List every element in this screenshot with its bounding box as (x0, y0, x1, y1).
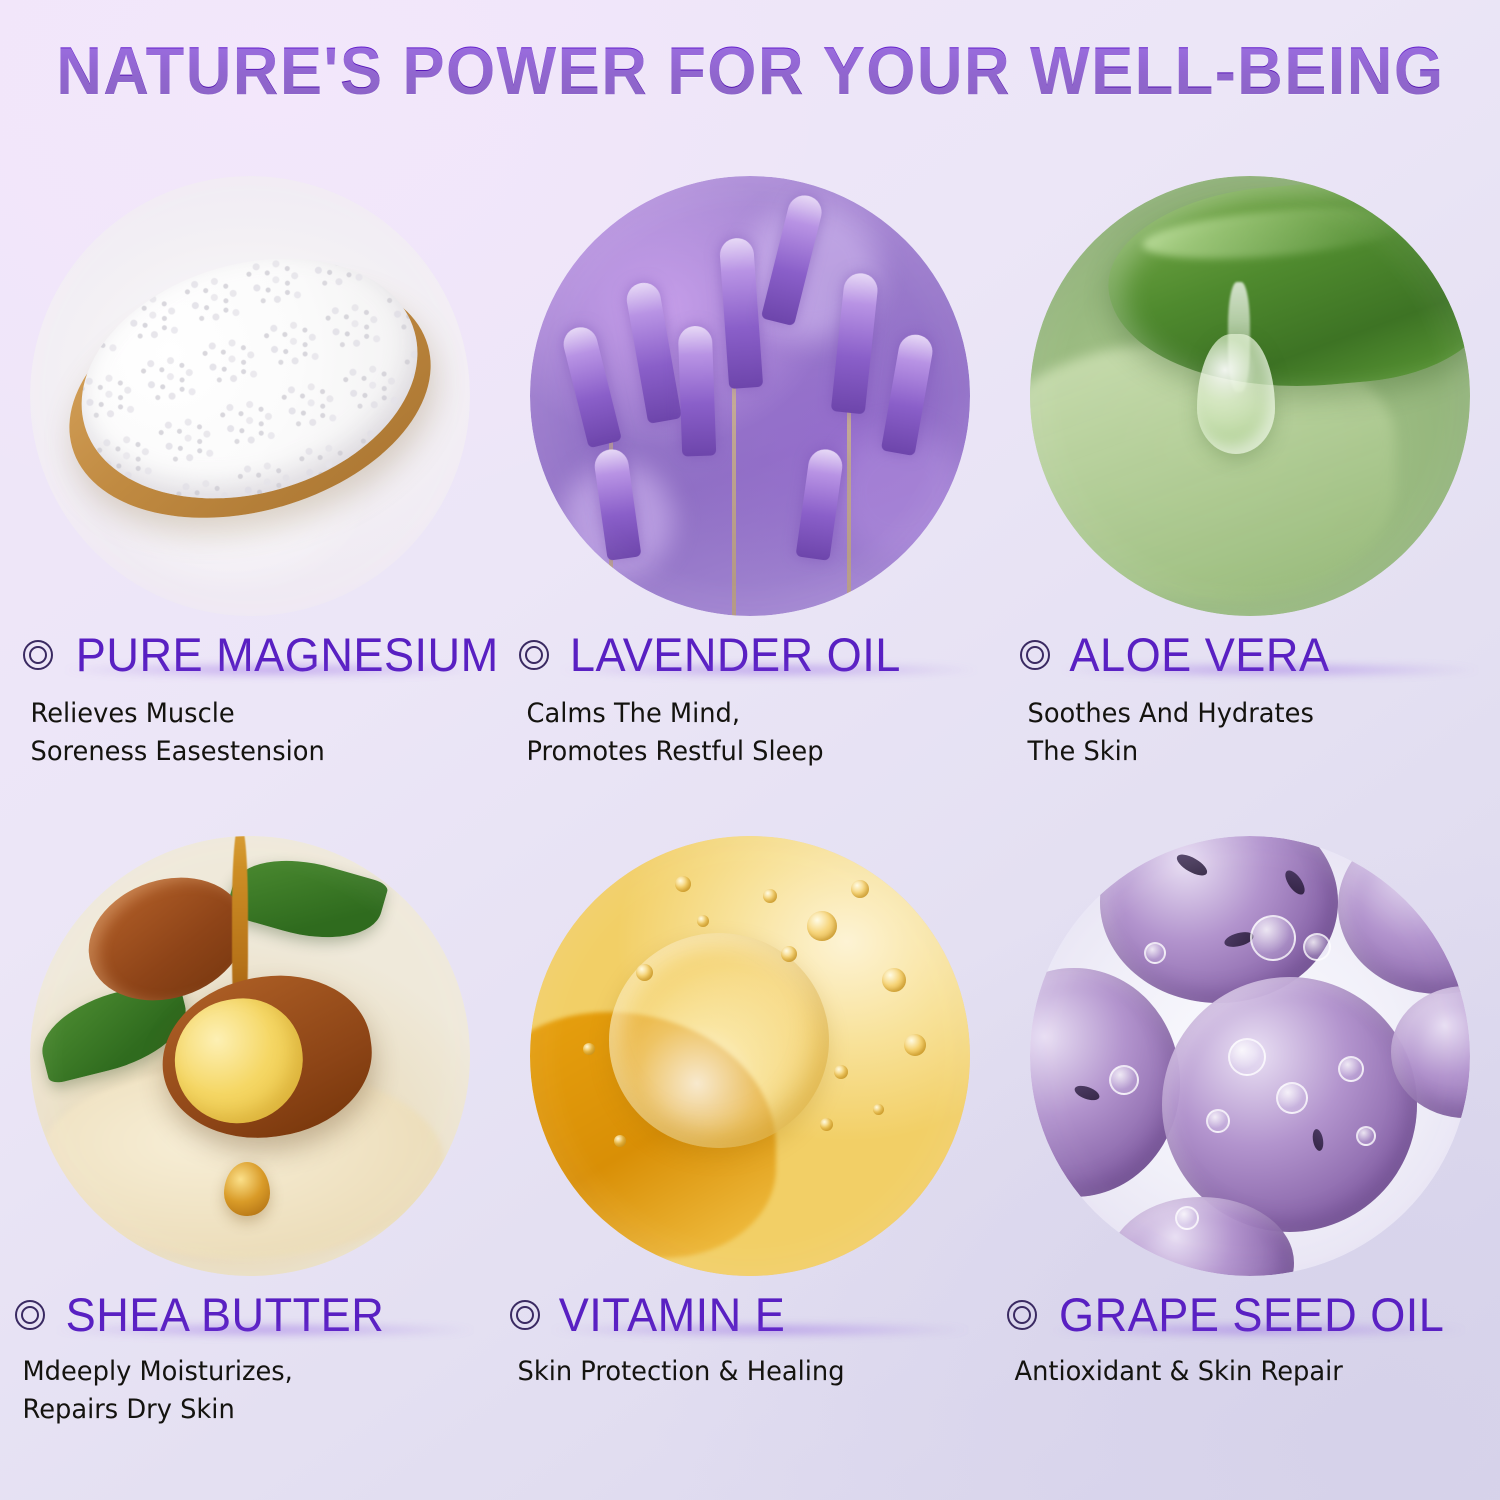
ingredient-card-vitamin-e: VITAMIN E Skin Protection & Healing (500, 810, 1000, 1470)
caption-block: LAVENDER OIL Calms The Mind, Promotes Re… (481, 630, 1019, 771)
ingredient-card-pure-magnesium: PURE MAGNESIUM Relieves Muscle Soreness … (0, 150, 500, 810)
caption-block: VITAMIN E Skin Protection & Healing (490, 1290, 1010, 1391)
oil-drop-bead (224, 1162, 270, 1216)
oil-bubble (763, 889, 777, 903)
oil-bubble (636, 964, 653, 981)
poster-title-wrap: NATURE'S POWER FOR YOUR WELL-BEING (0, 36, 1500, 107)
ingredient-description: Skin Protection & Healing (518, 1353, 1003, 1391)
ingredient-description: Calms The Mind, Promotes Restful Sleep (527, 695, 1012, 770)
grape-bubble (1250, 915, 1296, 961)
grape-cells-macro-photo (1030, 836, 1470, 1276)
double-circle-icon (15, 1300, 45, 1330)
heading-row: LAVENDER OIL (519, 630, 1019, 679)
ingredient-heading: SHEA BUTTER (66, 1290, 385, 1339)
grape-bubble (1206, 1109, 1230, 1133)
lavender-flower-spike (677, 325, 716, 456)
heading-row: VITAMIN E (510, 1290, 1010, 1339)
oil-bubble (820, 1118, 833, 1131)
ingredient-heading: VITAMIN E (559, 1290, 786, 1339)
ingredient-heading: PURE MAGNESIUM (76, 630, 499, 679)
shea-nut-and-butter-photo (30, 836, 470, 1276)
caption-block: GRAPE SEED OIL Antioxidant & Skin Repair (993, 1290, 1500, 1391)
ingredient-heading: LAVENDER OIL (570, 630, 901, 679)
ingredient-heading: ALOE VERA (1069, 630, 1329, 679)
grape-bubble (1144, 942, 1166, 964)
ingredient-heading: GRAPE SEED OIL (1059, 1290, 1444, 1339)
heading-row: SHEA BUTTER (15, 1290, 515, 1339)
caption-block: PURE MAGNESIUM Relieves Muscle Soreness … (0, 630, 523, 771)
oil-bubble (807, 911, 837, 941)
double-circle-icon (23, 640, 53, 670)
heading-row: GRAPE SEED OIL (1007, 1290, 1500, 1339)
aloe-gel-droplet (1197, 334, 1275, 454)
oil-bubble (834, 1065, 848, 1079)
ingredient-card-shea-butter: SHEA BUTTER Mdeeply Moisturizes, Repairs… (0, 810, 500, 1470)
lavender-field-photo (530, 176, 970, 616)
ingredient-infographic-poster: NATURE'S POWER FOR YOUR WELL-BEING PURE … (0, 0, 1500, 1500)
page-title: NATURE'S POWER FOR YOUR WELL-BEING (56, 36, 1444, 107)
heading-row: PURE MAGNESIUM (23, 630, 523, 679)
magnesium-salt-on-wooden-spoon-photo (30, 176, 470, 616)
ingredient-grid: PURE MAGNESIUM Relieves Muscle Soreness … (0, 150, 1500, 1500)
ingredient-description: Antioxidant & Skin Repair (1015, 1353, 1500, 1391)
aloe-vera-leaf-gel-drop-photo (1030, 176, 1470, 616)
lavender-stem (847, 405, 851, 616)
double-circle-icon (1020, 640, 1050, 670)
double-circle-icon (510, 1300, 540, 1330)
caption-block: ALOE VERA Soothes And Hydrates The Skin (980, 630, 1500, 771)
oil-bubble (904, 1034, 926, 1056)
oil-bubble (583, 1043, 595, 1055)
heading-row: ALOE VERA (1020, 630, 1500, 679)
oil-bubble (675, 876, 691, 892)
grape-bubble (1356, 1126, 1376, 1146)
grape-bubble (1338, 1056, 1364, 1082)
ingredient-card-grape-seed-oil: GRAPE SEED OIL Antioxidant & Skin Repair (1000, 810, 1500, 1470)
grape-bubble (1303, 933, 1331, 961)
ingredient-card-lavender-oil: LAVENDER OIL Calms The Mind, Promotes Re… (500, 150, 1000, 810)
lavender-stem (732, 378, 736, 616)
double-circle-icon (519, 640, 549, 670)
ingredient-description: Soothes And Hydrates The Skin (1028, 695, 1500, 770)
oil-bubble (781, 946, 797, 962)
caption-block: SHEA BUTTER Mdeeply Moisturizes, Repairs… (0, 1290, 515, 1429)
grape-bubble (1109, 1065, 1139, 1095)
ingredient-description: Relieves Muscle Soreness Easestension (31, 695, 516, 770)
ingredient-card-aloe-vera: ALOE VERA Soothes And Hydrates The Skin (1000, 150, 1500, 810)
ingredient-description: Mdeeply Moisturizes, Repairs Dry Skin (23, 1353, 508, 1428)
double-circle-icon (1007, 1300, 1037, 1330)
oil-bubble (882, 968, 906, 992)
grape-bubble (1175, 1206, 1199, 1230)
oil-bubble (614, 1135, 626, 1147)
golden-oil-droplet-macro-photo (530, 836, 970, 1276)
